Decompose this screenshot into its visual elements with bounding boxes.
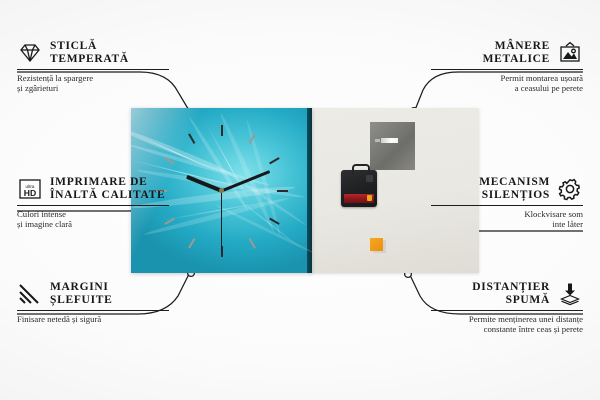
infographic-stage: STICLĂ TEMPERATĂ Rezistență la spargere … <box>0 0 600 400</box>
bevel-edge-icon <box>17 282 43 306</box>
svg-text:HD: HD <box>24 188 36 198</box>
product-image <box>131 108 479 273</box>
feature-subtitle: Klockvisare som inte låter <box>431 209 583 230</box>
second-hand <box>221 191 222 251</box>
divider <box>431 69 583 70</box>
divider <box>431 205 583 206</box>
feature-mecanism-silentios: MECANISM SILENȚIOS Klockvisare som inte … <box>431 176 583 230</box>
hour-hand <box>186 174 223 192</box>
feature-title: MARGINI ȘLEFUITE <box>50 281 112 307</box>
gear-icon <box>557 177 583 201</box>
feature-margini-slefuite: MARGINI ȘLEFUITE Finisare netedă și sigu… <box>17 281 169 324</box>
divider <box>17 69 169 70</box>
feature-distantier-spuma: DISTANȚIER SPUMĂ Permite menținerea unei… <box>431 281 583 335</box>
feature-subtitle: Rezistență la spargere și zgârieturi <box>17 73 169 94</box>
battery <box>344 194 374 203</box>
feature-title: MECANISM SILENȚIOS <box>479 176 550 202</box>
feature-title: STICLĂ TEMPERATĂ <box>50 40 129 66</box>
divider <box>431 310 583 311</box>
divider <box>17 205 169 206</box>
feature-subtitle: Permite menținerea unei distanțe constan… <box>431 314 583 335</box>
mechanism-knob <box>366 175 373 182</box>
feature-sticla-temperata: STICLĂ TEMPERATĂ Rezistență la spargere … <box>17 40 169 94</box>
metal-hanger-plate <box>370 122 415 170</box>
feature-title: DISTANȚIER SPUMĂ <box>472 281 550 307</box>
feature-title: MÂNERE METALICE <box>483 40 550 66</box>
foam-spacer-icon <box>557 282 583 306</box>
picture-hanger-icon <box>557 41 583 65</box>
ultra-hd-icon: ultra HD <box>17 177 43 201</box>
feature-title: IMPRIMARE DE ÎNALTĂ CALITATE <box>50 176 165 202</box>
divider <box>17 310 169 311</box>
hanger-loop <box>352 164 370 174</box>
feature-imprimare-hd: ultra HD IMPRIMARE DE ÎNALTĂ CALITATE Cu… <box>17 176 169 230</box>
feature-manere-metalice: MÂNERE METALICE Permit montarea ușoară a… <box>431 40 583 94</box>
foam-spacer <box>370 238 383 251</box>
feature-subtitle: Permit montarea ușoară a ceasului pe per… <box>431 73 583 94</box>
center-pin <box>219 188 224 193</box>
clock-mechanism <box>341 170 377 207</box>
feature-subtitle: Culori intense și imagine clară <box>17 209 169 230</box>
feature-subtitle: Finisare netedă și sigură <box>17 314 169 324</box>
minute-hand <box>221 170 270 192</box>
diamond-icon <box>17 41 43 65</box>
